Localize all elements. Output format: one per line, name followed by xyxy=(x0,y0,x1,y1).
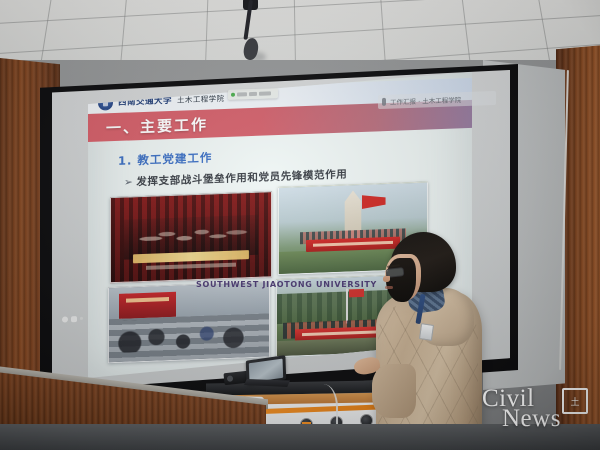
presenter-arm xyxy=(372,364,416,418)
slide-section-heading: 1. 教工党建工作 xyxy=(118,149,212,168)
slide-footer-text: SOUTHWEST JIAOTONG UNIVERSITY xyxy=(196,280,377,289)
slide-title: 一、主要工作 xyxy=(88,113,208,138)
more-options-icon[interactable] xyxy=(80,317,83,320)
photo-scene: 西南交通大学 土木工程学院 一、主要工作 1. 教工党建工作 ➢发挥支部战斗堡垒… xyxy=(0,0,600,450)
session-title-text: 工作汇报 · 土木工程学院 xyxy=(390,94,461,106)
presenter-toolbar[interactable] xyxy=(62,313,96,323)
recording-status-chip xyxy=(228,88,278,100)
watermark-line-2: News xyxy=(502,406,561,431)
recording-dot-icon xyxy=(231,93,235,97)
id-badge xyxy=(419,323,434,341)
presenter-mouth xyxy=(385,286,393,289)
presenter-nose xyxy=(383,276,390,282)
slide-menu-icon[interactable] xyxy=(71,316,77,322)
watermark-badge-icon: 土 xyxy=(562,388,588,414)
laptop-keyboard[interactable] xyxy=(244,379,290,387)
slide-photo-group-portrait xyxy=(110,191,272,283)
microphone-icon xyxy=(382,98,386,106)
bullet-arrow-icon: ➢ xyxy=(124,176,133,188)
watermark-civil-news: Civil News 土 xyxy=(478,386,596,444)
ceiling-microphone-icon xyxy=(240,0,262,58)
slide-photo-lecture-hall xyxy=(108,281,270,363)
presenter-laptop[interactable] xyxy=(242,358,290,388)
laptop-screen xyxy=(249,358,283,382)
pen-tool-icon[interactable] xyxy=(62,316,68,322)
